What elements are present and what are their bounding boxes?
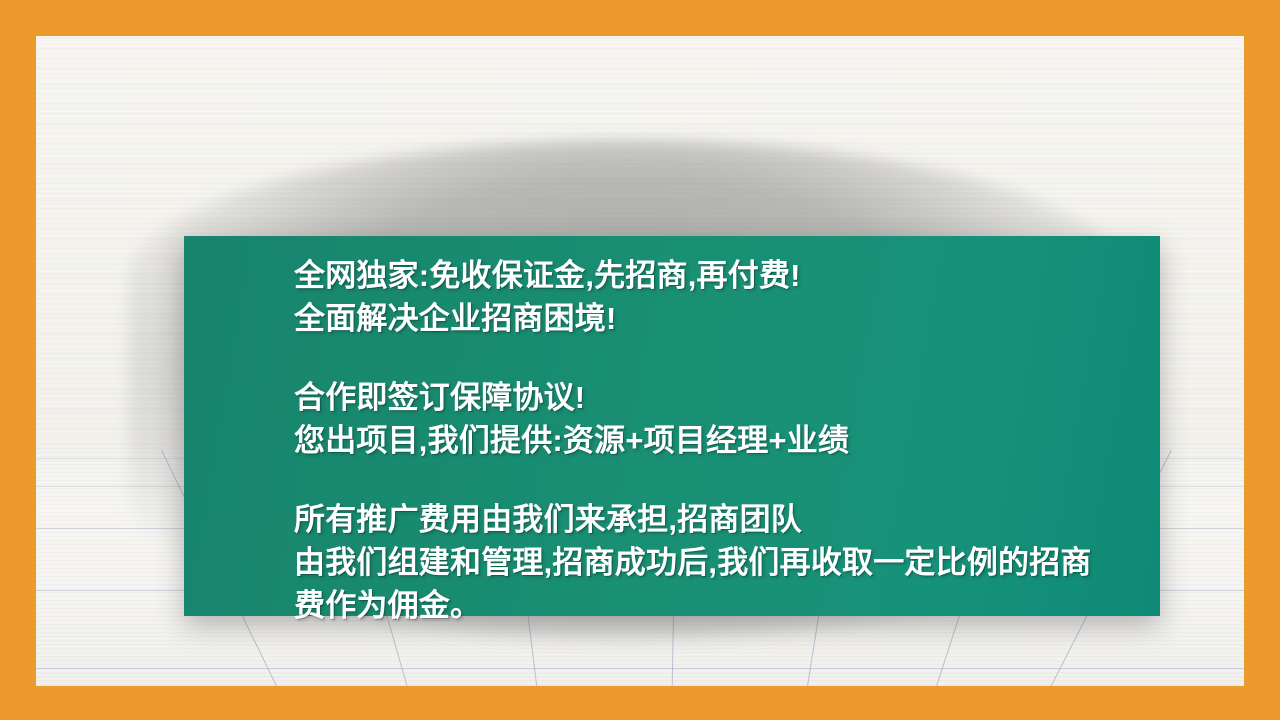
card-line: 全面解决企业招商困境! <box>294 297 1160 340</box>
floor-seam-horizontal <box>36 668 1244 669</box>
green-message-card: 全网独家:免收保证金,先招商,再付费!全面解决企业招商困境!合作即签订保障协议!… <box>184 236 1160 616</box>
room-panel: 全网独家:免收保证金,先招商,再付费!全面解决企业招商困境!合作即签订保障协议!… <box>36 36 1244 686</box>
card-paragraph-headline: 全网独家:免收保证金,先招商,再付费!全面解决企业招商困境! <box>294 254 1160 340</box>
card-text-body: 全网独家:免收保证金,先招商,再付费!全面解决企业招商困境!合作即签订保障协议!… <box>294 254 1160 627</box>
card-paragraph-guarantee: 合作即签订保障协议!您出项目,我们提供:资源+项目经理+业绩 <box>294 376 1160 462</box>
card-line: 全网独家:免收保证金,先招商,再付费! <box>294 254 1160 297</box>
slide-canvas: 全网独家:免收保证金,先招商,再付费!全面解决企业招商困境!合作即签订保障协议!… <box>0 0 1280 720</box>
card-line: 费作为佣金。 <box>294 584 1160 627</box>
card-line: 所有推广费用由我们来承担,招商团队 <box>294 498 1160 541</box>
card-line: 您出项目,我们提供:资源+项目经理+业绩 <box>294 419 1160 462</box>
card-paragraph-terms: 所有推广费用由我们来承担,招商团队由我们组建和管理,招商成功后,我们再收取一定比… <box>294 498 1160 627</box>
card-line: 由我们组建和管理,招商成功后,我们再收取一定比例的招商 <box>294 541 1160 584</box>
card-line: 合作即签订保障协议! <box>294 376 1160 419</box>
